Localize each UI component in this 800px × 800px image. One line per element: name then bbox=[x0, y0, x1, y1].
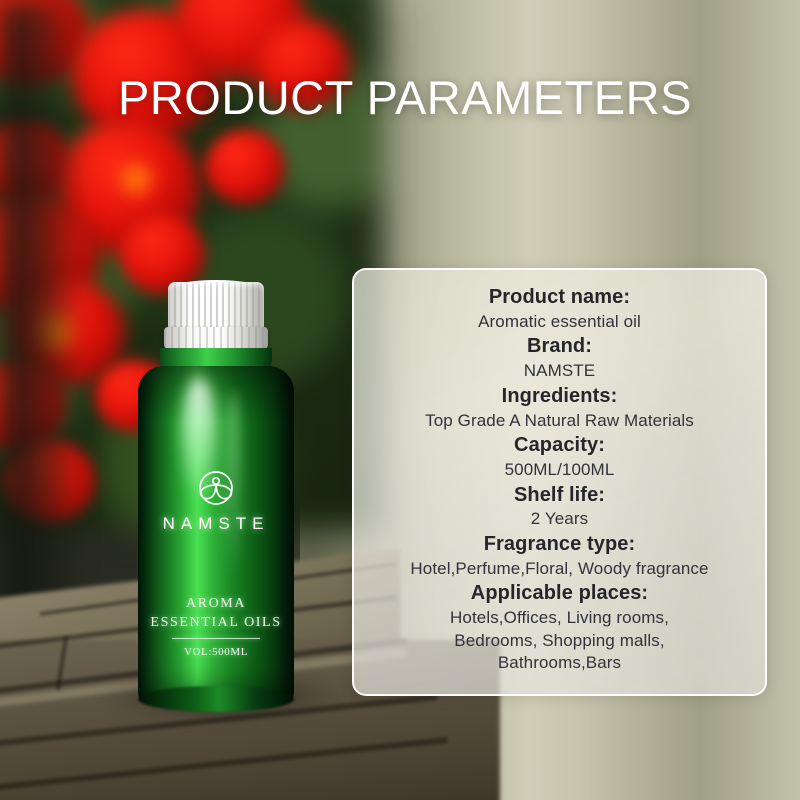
spec-label: Applicable places: bbox=[364, 580, 755, 607]
spec-value: NAMSTE bbox=[364, 360, 755, 383]
spec-value-line: Hotel,Perfume,Floral, Woody fragrance bbox=[364, 558, 755, 581]
bottle-cap bbox=[168, 282, 264, 330]
rose-flower bbox=[205, 130, 285, 205]
product-bottle: NAMSTE AROMA ESSENTIAL OILS VOL:500ML bbox=[130, 282, 300, 707]
spec-value-line: Bathrooms,Bars bbox=[364, 652, 755, 675]
spec-label: Capacity: bbox=[364, 432, 755, 459]
bottle-label-divider bbox=[172, 638, 260, 639]
bottle-shoulder-shading bbox=[138, 366, 294, 422]
spec-label: Product name: bbox=[364, 284, 755, 311]
spec-label: Shelf life: bbox=[364, 482, 755, 509]
spec-row: Applicable places: Hotels,Offices, Livin… bbox=[364, 580, 755, 675]
spec-row: Brand: NAMSTE bbox=[364, 333, 755, 382]
bottle-brand-text: NAMSTE bbox=[130, 514, 302, 534]
rose-center bbox=[115, 160, 157, 198]
spec-value: Aromatic essential oil bbox=[364, 311, 755, 334]
spec-value-line: Top Grade A Natural Raw Materials bbox=[364, 410, 755, 433]
bottle-label-line2: ESSENTIAL OILS bbox=[130, 615, 302, 631]
spec-row: Product name: Aromatic essential oil bbox=[364, 284, 755, 333]
bottle-base bbox=[138, 686, 294, 712]
spec-row: Fragrance type: Hotel,Perfume,Floral, Wo… bbox=[364, 531, 755, 580]
bottle-label-line1: AROMA bbox=[130, 596, 302, 612]
bottle-volume-text: VOL:500ML bbox=[130, 646, 302, 658]
spec-value-line: Bedrooms, Shopping malls, bbox=[364, 630, 755, 653]
spec-value-line: Hotels,Offices, Living rooms, bbox=[364, 607, 755, 630]
spec-value: Top Grade A Natural Raw Materials bbox=[364, 410, 755, 433]
spec-value-line: NAMSTE bbox=[364, 360, 755, 383]
spec-value: Hotel,Perfume,Floral, Woody fragrance bbox=[364, 558, 755, 581]
spec-label: Fragrance type: bbox=[364, 531, 755, 558]
spec-value: Hotels,Offices, Living rooms, Bedrooms, … bbox=[364, 607, 755, 675]
spec-value-line: 2 Years bbox=[364, 508, 755, 531]
spec-value-line: Aromatic essential oil bbox=[364, 311, 755, 334]
spec-value: 2 Years bbox=[364, 508, 755, 531]
spec-label: Brand: bbox=[364, 333, 755, 360]
product-parameters-panel: Product name: Aromatic essential oil Bra… bbox=[352, 268, 767, 696]
spec-label: Ingredients: bbox=[364, 383, 755, 410]
namste-lotus-figure-icon bbox=[192, 468, 240, 512]
spec-row: Shelf life: 2 Years bbox=[364, 482, 755, 531]
page-title: PRODUCT PARAMETERS bbox=[118, 70, 692, 125]
spec-value-line: 500ML/100ML bbox=[364, 459, 755, 482]
spec-row: Ingredients: Top Grade A Natural Raw Mat… bbox=[364, 383, 755, 432]
spec-value: 500ML/100ML bbox=[364, 459, 755, 482]
spec-row: Capacity: 500ML/100ML bbox=[364, 432, 755, 481]
